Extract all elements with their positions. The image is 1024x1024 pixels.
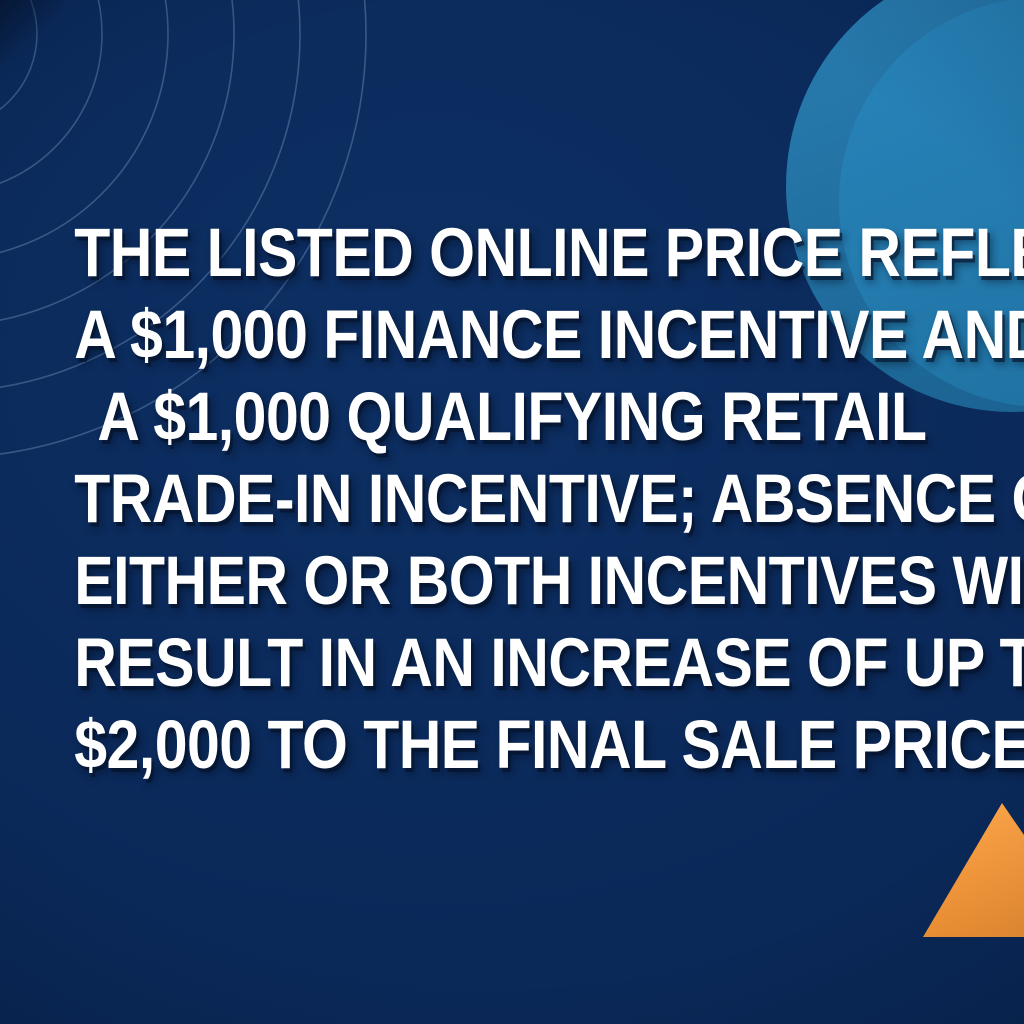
headline-line-2: A $1,000 FINANCE INCENTIVE AND (74, 294, 950, 376)
headline-line-7: $2,000 TO THE FINAL SALE PRICE. (74, 704, 950, 786)
disclaimer-graphic: THE LISTED ONLINE PRICE REFLECTS A $1,00… (0, 0, 1024, 1024)
headline-line-4: TRADE-IN INCENTIVE; ABSENCE OF (74, 458, 950, 540)
headline-line-5: EITHER OR BOTH INCENTIVES WILL (74, 540, 950, 622)
disclaimer-headline: THE LISTED ONLINE PRICE REFLECTS A $1,00… (0, 212, 1024, 786)
bottom-right-triangle (923, 803, 1024, 937)
headline-line-6: RESULT IN AN INCREASE OF UP TO (74, 622, 950, 704)
headline-line-3: A $1,000 QUALIFYING RETAIL (74, 376, 950, 458)
headline-line-1: THE LISTED ONLINE PRICE REFLECTS (74, 212, 950, 294)
